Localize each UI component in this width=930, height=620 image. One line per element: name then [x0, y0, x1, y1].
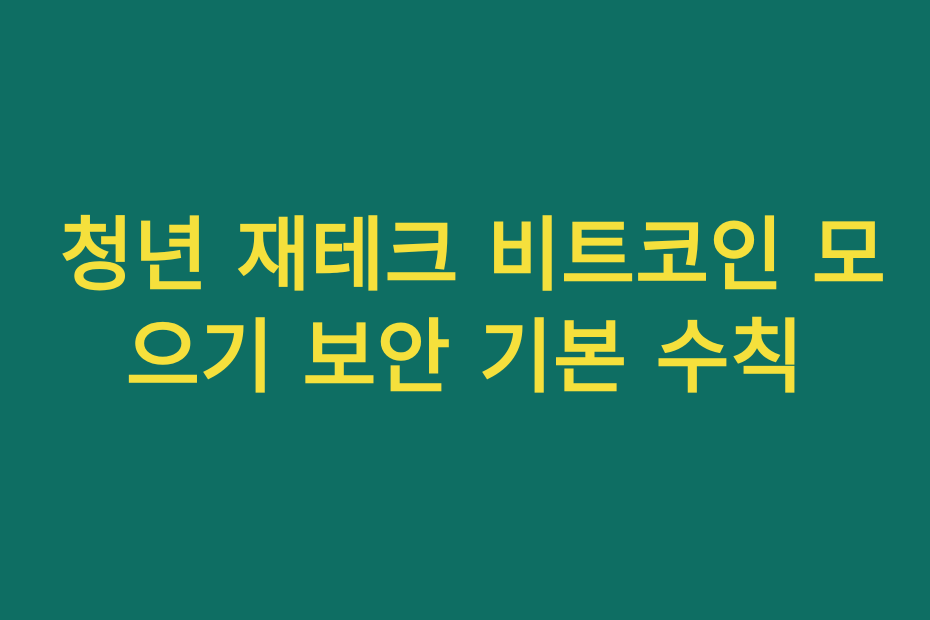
page-title: 청년 재테크 비트코인 모 으기 보안 기본 수칙 [50, 205, 880, 410]
title-line-2: 으기 보안 기본 수칙 [60, 307, 870, 409]
thumbnail-card: 청년 재테크 비트코인 모 으기 보안 기본 수칙 [0, 0, 930, 620]
title-line-1: 청년 재테크 비트코인 모 [60, 205, 870, 307]
